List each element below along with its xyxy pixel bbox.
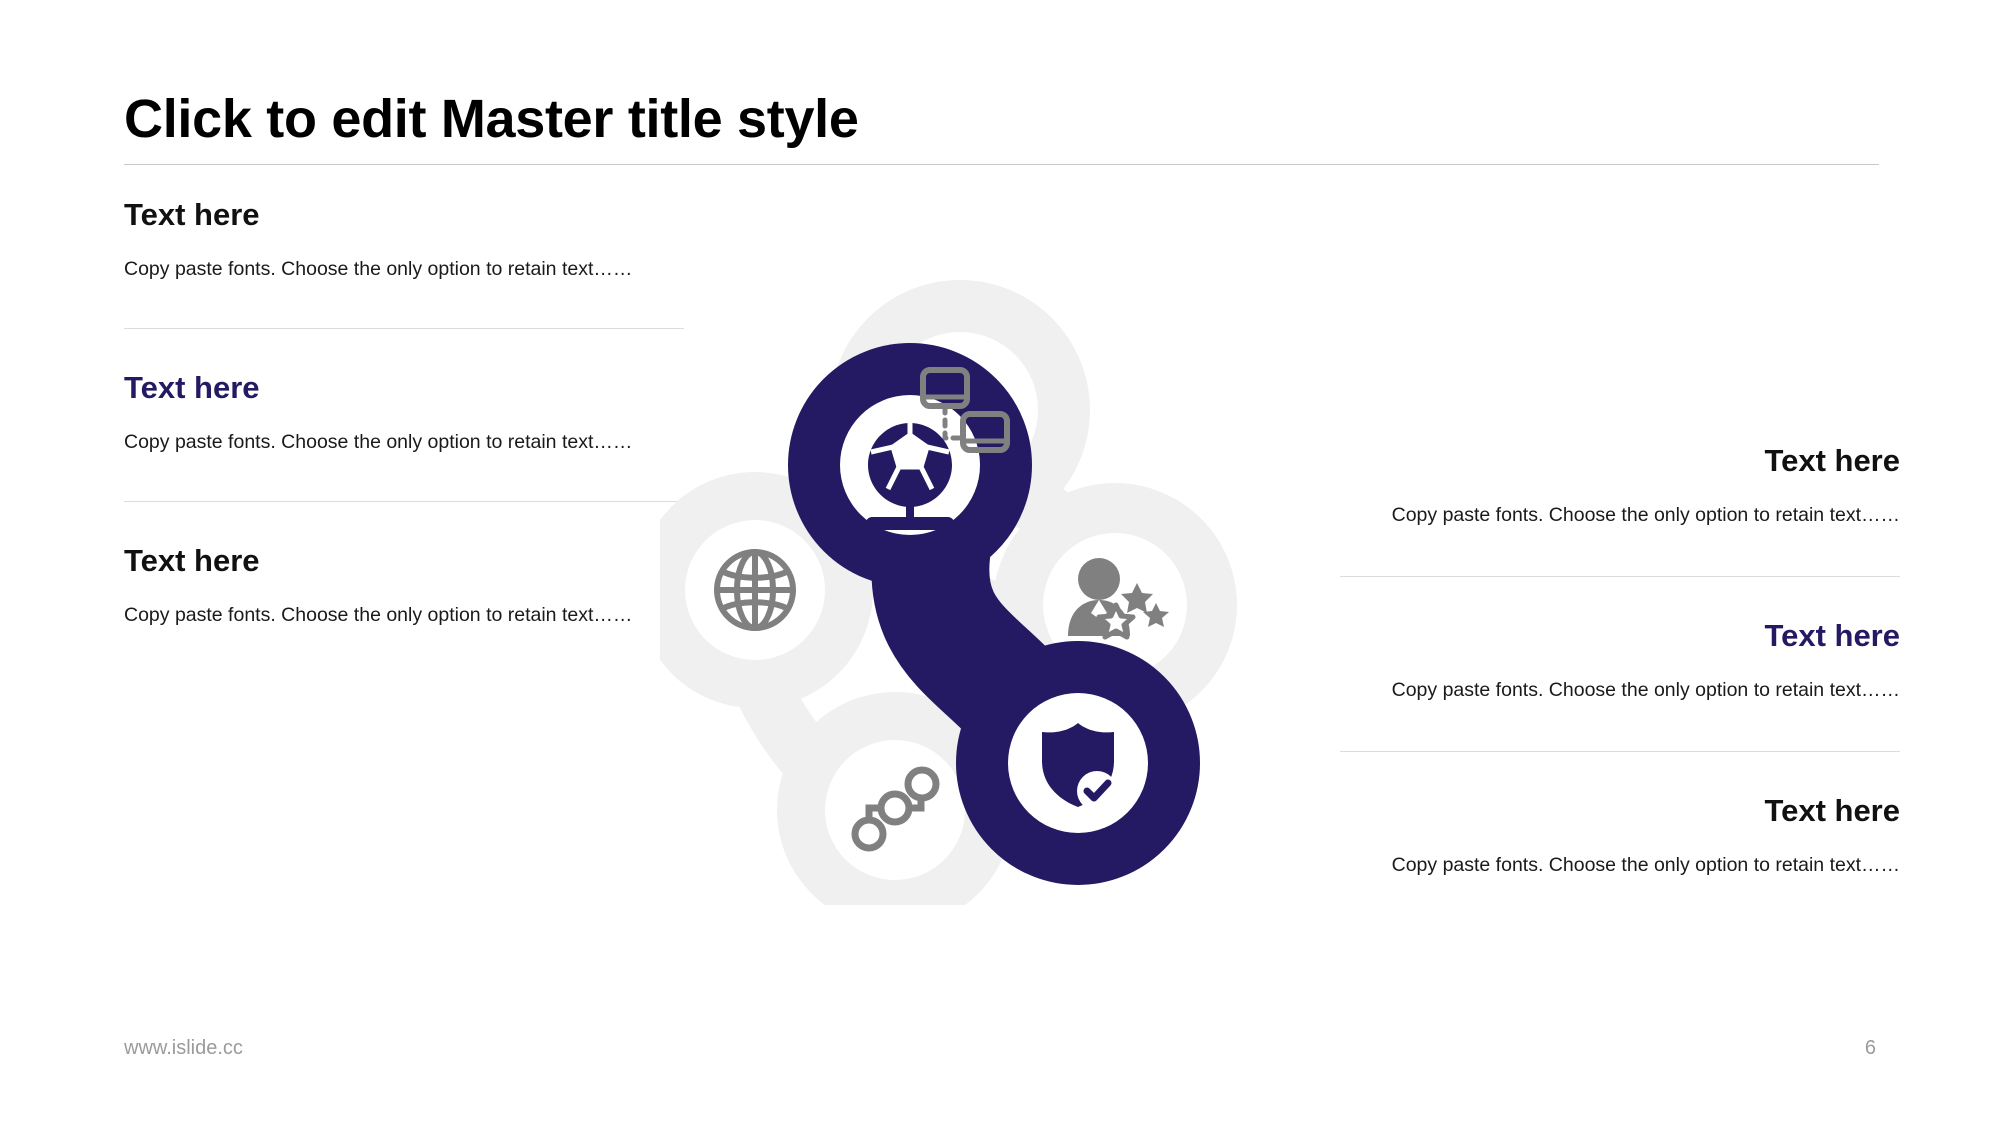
right-entry-1-body[interactable]: Copy paste fonts. Choose the only option…	[1340, 500, 1900, 532]
page-title[interactable]: Click to edit Master title style	[124, 88, 1879, 150]
left-entry-2-body[interactable]: Copy paste fonts. Choose the only option…	[124, 427, 684, 459]
left-entry-1-heading[interactable]: Text here	[124, 196, 684, 233]
right-entry-2: Text here Copy paste fonts. Choose the o…	[1340, 617, 1900, 707]
right-entry-1-heading[interactable]: Text here	[1340, 442, 1900, 479]
left-entry-3-heading[interactable]: Text here	[124, 542, 684, 579]
central-infographic	[660, 255, 1320, 905]
left-entry-3: Text here Copy paste fonts. Choose the o…	[124, 542, 684, 632]
left-text-column: Text here Copy paste fonts. Choose the o…	[124, 196, 684, 631]
slide-canvas: Click to edit Master title style Text he…	[0, 0, 2000, 1125]
left-entry-3-body[interactable]: Copy paste fonts. Choose the only option…	[124, 600, 684, 632]
right-entry-1: Text here Copy paste fonts. Choose the o…	[1340, 442, 1900, 532]
right-entry-3: Text here Copy paste fonts. Choose the o…	[1340, 792, 1900, 882]
right-entry-3-body[interactable]: Copy paste fonts. Choose the only option…	[1340, 850, 1900, 882]
title-divider	[124, 164, 1879, 165]
left-divider-2	[124, 501, 684, 502]
right-entry-2-heading[interactable]: Text here	[1340, 617, 1900, 654]
left-entry-1-body[interactable]: Copy paste fonts. Choose the only option…	[124, 254, 684, 286]
right-entry-3-heading[interactable]: Text here	[1340, 792, 1900, 829]
right-divider-2	[1340, 751, 1900, 752]
title-block: Click to edit Master title style	[124, 88, 1879, 165]
left-entry-2: Text here Copy paste fonts. Choose the o…	[124, 369, 684, 459]
footer-url[interactable]: www.islide.cc	[124, 1037, 243, 1060]
globe-icon	[717, 552, 793, 628]
footer-page-number: 6	[1865, 1037, 1876, 1060]
right-entry-2-body[interactable]: Copy paste fonts. Choose the only option…	[1340, 675, 1900, 707]
right-text-column: Text here Copy paste fonts. Choose the o…	[1340, 442, 1900, 881]
left-entry-2-heading[interactable]: Text here	[124, 369, 684, 406]
left-entry-1: Text here Copy paste fonts. Choose the o…	[124, 196, 684, 286]
right-divider-1	[1340, 576, 1900, 577]
left-divider-1	[124, 328, 684, 329]
